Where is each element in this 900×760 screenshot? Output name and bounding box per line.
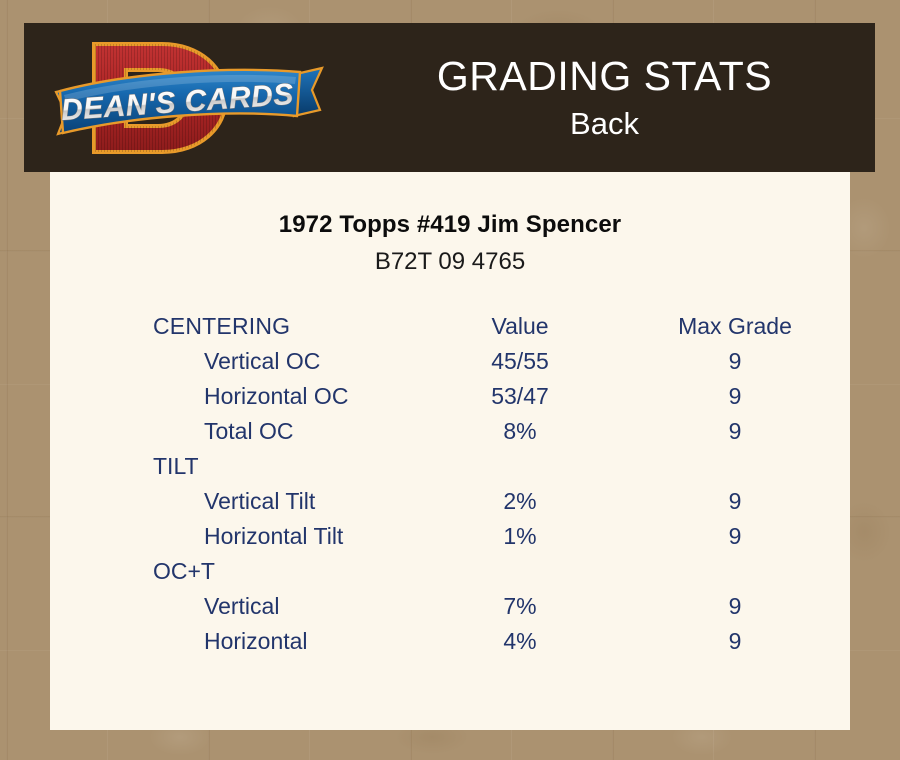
- stat-max-grade: 9: [620, 589, 850, 624]
- stat-value: 7%: [420, 589, 620, 624]
- section-spacer-grade: [620, 449, 850, 484]
- column-header-centering: CENTERING: [50, 309, 420, 344]
- stat-label: Horizontal Tilt: [50, 519, 420, 554]
- section-spacer-value: [420, 449, 620, 484]
- card-title: 1972 Topps #419 Jim Spencer: [50, 210, 850, 240]
- stat-max-grade: 9: [620, 484, 850, 519]
- column-header-value: Value: [420, 309, 620, 344]
- page-title: GRADING STATS: [437, 52, 772, 100]
- stat-label: Horizontal OC: [50, 379, 420, 414]
- table-header-row: CENTERING Value Max Grade: [50, 309, 850, 344]
- stat-label: Total OC: [50, 414, 420, 449]
- column-header-max-grade: Max Grade: [620, 309, 850, 344]
- stat-value: 1%: [420, 519, 620, 554]
- grading-stats-table: CENTERING Value Max Grade Vertical OC 45…: [50, 309, 850, 659]
- stat-value: 53/47: [420, 379, 620, 414]
- table-row: Vertical 7% 9: [50, 589, 850, 624]
- table-row: Vertical Tilt 2% 9: [50, 484, 850, 519]
- table-row: Horizontal OC 53/47 9: [50, 379, 850, 414]
- stat-label: Vertical OC: [50, 344, 420, 379]
- table-row: Horizontal 4% 9: [50, 624, 850, 659]
- stat-value: 4%: [420, 624, 620, 659]
- stat-max-grade: 9: [620, 519, 850, 554]
- stat-value: 45/55: [420, 344, 620, 379]
- header-title-group: GRADING STATS Back: [334, 23, 875, 172]
- table-row: Horizontal Tilt 1% 9: [50, 519, 850, 554]
- section-title: TILT: [50, 449, 420, 484]
- stat-max-grade: 9: [620, 379, 850, 414]
- section-header-oc-plus-t: OC+T: [50, 554, 850, 589]
- table-row: Vertical OC 45/55 9: [50, 344, 850, 379]
- section-header-tilt: TILT: [50, 449, 850, 484]
- stat-label: Vertical Tilt: [50, 484, 420, 519]
- section-spacer-value: [420, 554, 620, 589]
- stat-label: Horizontal: [50, 624, 420, 659]
- header-bar: DEAN'S CARDS GRADING STATS Back: [24, 23, 875, 172]
- stat-max-grade: 9: [620, 344, 850, 379]
- content-panel: 1972 Topps #419 Jim Spencer B72T 09 4765…: [50, 172, 850, 730]
- stat-label: Vertical: [50, 589, 420, 624]
- section-spacer-grade: [620, 554, 850, 589]
- deans-cards-logo[interactable]: DEAN'S CARDS: [50, 30, 330, 166]
- table-row: Total OC 8% 9: [50, 414, 850, 449]
- stat-max-grade: 9: [620, 624, 850, 659]
- card-serial-number: B72T 09 4765: [50, 247, 850, 277]
- section-title: OC+T: [50, 554, 420, 589]
- stat-max-grade: 9: [620, 414, 850, 449]
- page-subtitle: Back: [570, 104, 639, 144]
- stat-value: 2%: [420, 484, 620, 519]
- grading-stats-body: Vertical OC 45/55 9 Horizontal OC 53/47 …: [50, 344, 850, 659]
- stat-value: 8%: [420, 414, 620, 449]
